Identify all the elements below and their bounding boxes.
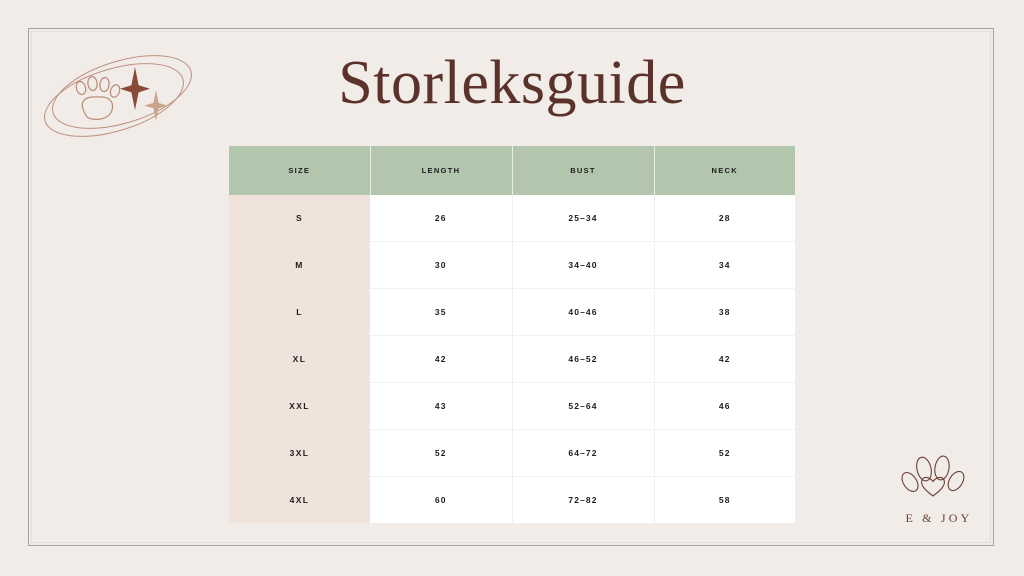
cell-bust: 64–72 — [512, 430, 654, 477]
cell-neck: 52 — [654, 430, 795, 477]
cell-size: M — [229, 242, 370, 289]
cell-length: 43 — [370, 383, 512, 430]
cell-size: XL — [229, 336, 370, 383]
cell-length: 60 — [370, 477, 512, 524]
table-row: XXL 43 52–64 46 — [229, 383, 795, 430]
cell-neck: 46 — [654, 383, 795, 430]
cell-size: S — [229, 195, 370, 242]
cell-bust: 40–46 — [512, 289, 654, 336]
page-title: Storleksguide — [0, 52, 1024, 114]
cell-neck: 34 — [654, 242, 795, 289]
brand-lockup: E & JOY — [884, 452, 994, 526]
column-header-size: SIZE — [229, 146, 370, 195]
paw-heart-logo — [884, 452, 994, 504]
cell-length: 26 — [370, 195, 512, 242]
cell-size: 4XL — [229, 477, 370, 524]
table-header-row: SIZE LENGTH BUST NECK — [229, 146, 795, 195]
cell-neck: 28 — [654, 195, 795, 242]
cell-size: 3XL — [229, 430, 370, 477]
cell-bust: 52–64 — [512, 383, 654, 430]
cell-neck: 58 — [654, 477, 795, 524]
cell-bust: 72–82 — [512, 477, 654, 524]
column-header-bust: BUST — [512, 146, 654, 195]
table-row: 3XL 52 64–72 52 — [229, 430, 795, 477]
table-row: XL 42 46–52 42 — [229, 336, 795, 383]
table-row: M 30 34–40 34 — [229, 242, 795, 289]
cell-length: 42 — [370, 336, 512, 383]
cell-length: 35 — [370, 289, 512, 336]
size-guide-table: SIZE LENGTH BUST NECK S 26 25–34 28 M 30… — [229, 146, 795, 523]
cell-neck: 42 — [654, 336, 795, 383]
cell-bust: 25–34 — [512, 195, 654, 242]
table-row: 4XL 60 72–82 58 — [229, 477, 795, 524]
cell-size: XXL — [229, 383, 370, 430]
table-row: L 35 40–46 38 — [229, 289, 795, 336]
cell-length: 30 — [370, 242, 512, 289]
cell-size: L — [229, 289, 370, 336]
cell-bust: 46–52 — [512, 336, 654, 383]
cell-neck: 38 — [654, 289, 795, 336]
column-header-neck: NECK — [654, 146, 795, 195]
cell-length: 52 — [370, 430, 512, 477]
brand-name: E & JOY — [884, 511, 994, 526]
size-guide-page: Storleksguide SIZE LENGTH BUST NECK S 26… — [0, 0, 1024, 576]
table-row: S 26 25–34 28 — [229, 195, 795, 242]
column-header-length: LENGTH — [370, 146, 512, 195]
cell-bust: 34–40 — [512, 242, 654, 289]
